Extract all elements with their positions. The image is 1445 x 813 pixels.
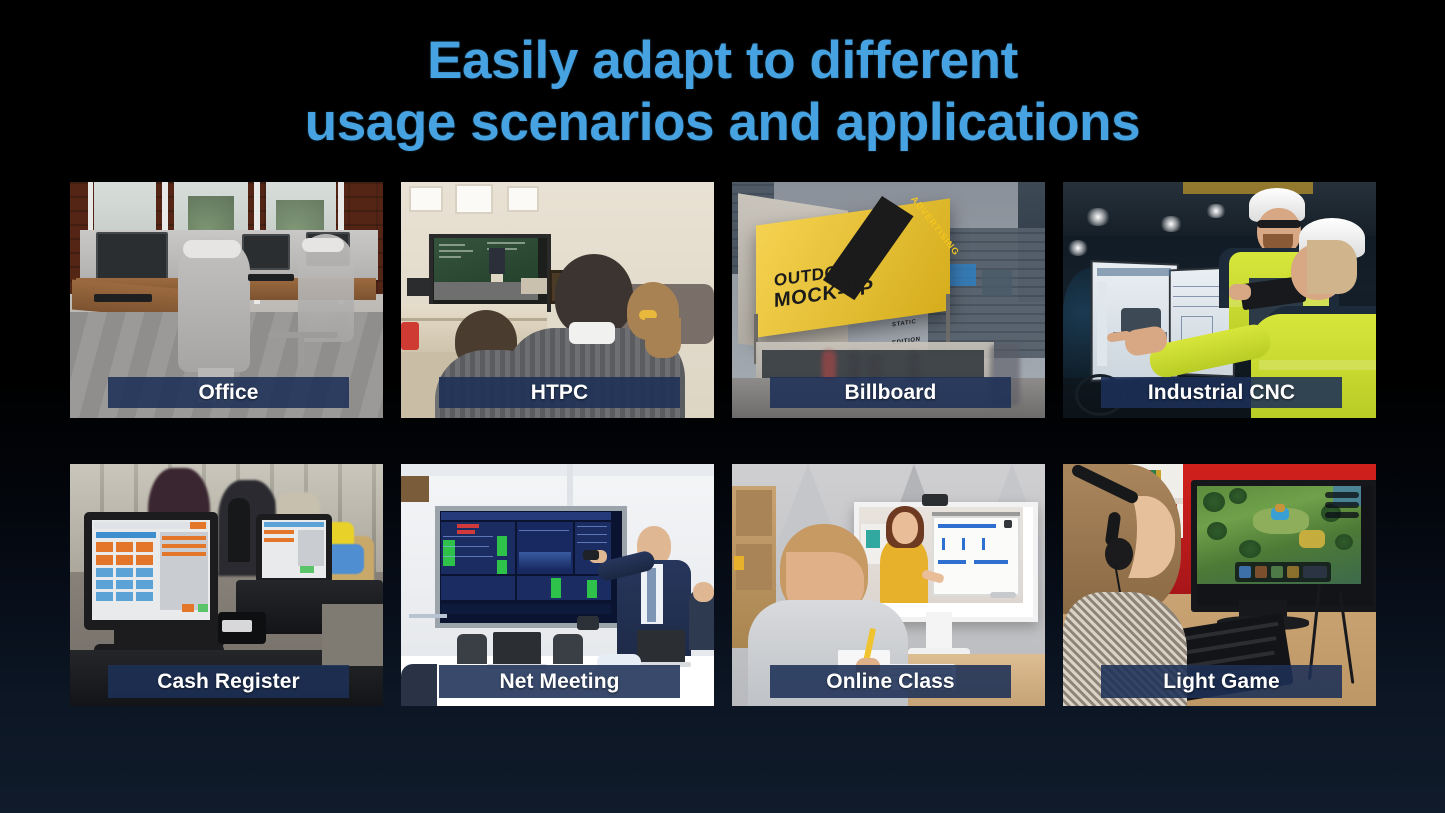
scenario-label-net-meeting: Net Meeting	[439, 665, 680, 698]
scenario-label-cash-register: Cash Register	[108, 665, 349, 698]
page-title: Easily adapt to different usage scenario…	[0, 30, 1445, 154]
title-line-1: Easily adapt to different	[427, 31, 1018, 90]
scenario-card-htpc[interactable]: HTPC	[401, 182, 714, 418]
scenario-label-billboard: Billboard	[770, 377, 1011, 408]
scenario-label-industrial-cnc: Industrial CNC	[1101, 377, 1342, 408]
scenario-card-industrial-cnc[interactable]: Industrial CNC	[1063, 182, 1376, 418]
scenario-label-office: Office	[108, 377, 349, 408]
scenario-card-billboard[interactable]: ADVERTISING OUTDOOR MOCK-UP STATIC EDITI…	[732, 182, 1045, 418]
scenario-grid: Office	[70, 182, 1376, 706]
scenario-label-online-class: Online Class	[770, 665, 1011, 698]
slide-root: Easily adapt to different usage scenario…	[0, 0, 1445, 813]
scenario-card-office[interactable]: Office	[70, 182, 383, 418]
title-line-2: usage scenarios and applications	[0, 92, 1445, 154]
scenario-card-online-class[interactable]: Online Class	[732, 464, 1045, 706]
scenario-label-light-game: Light Game	[1101, 665, 1342, 698]
scenario-card-net-meeting[interactable]: Net Meeting	[401, 464, 714, 706]
scenario-label-htpc: HTPC	[439, 377, 680, 408]
scenario-card-light-game[interactable]: Light Game	[1063, 464, 1376, 706]
scenario-card-cash-register[interactable]: Cash Register	[70, 464, 383, 706]
